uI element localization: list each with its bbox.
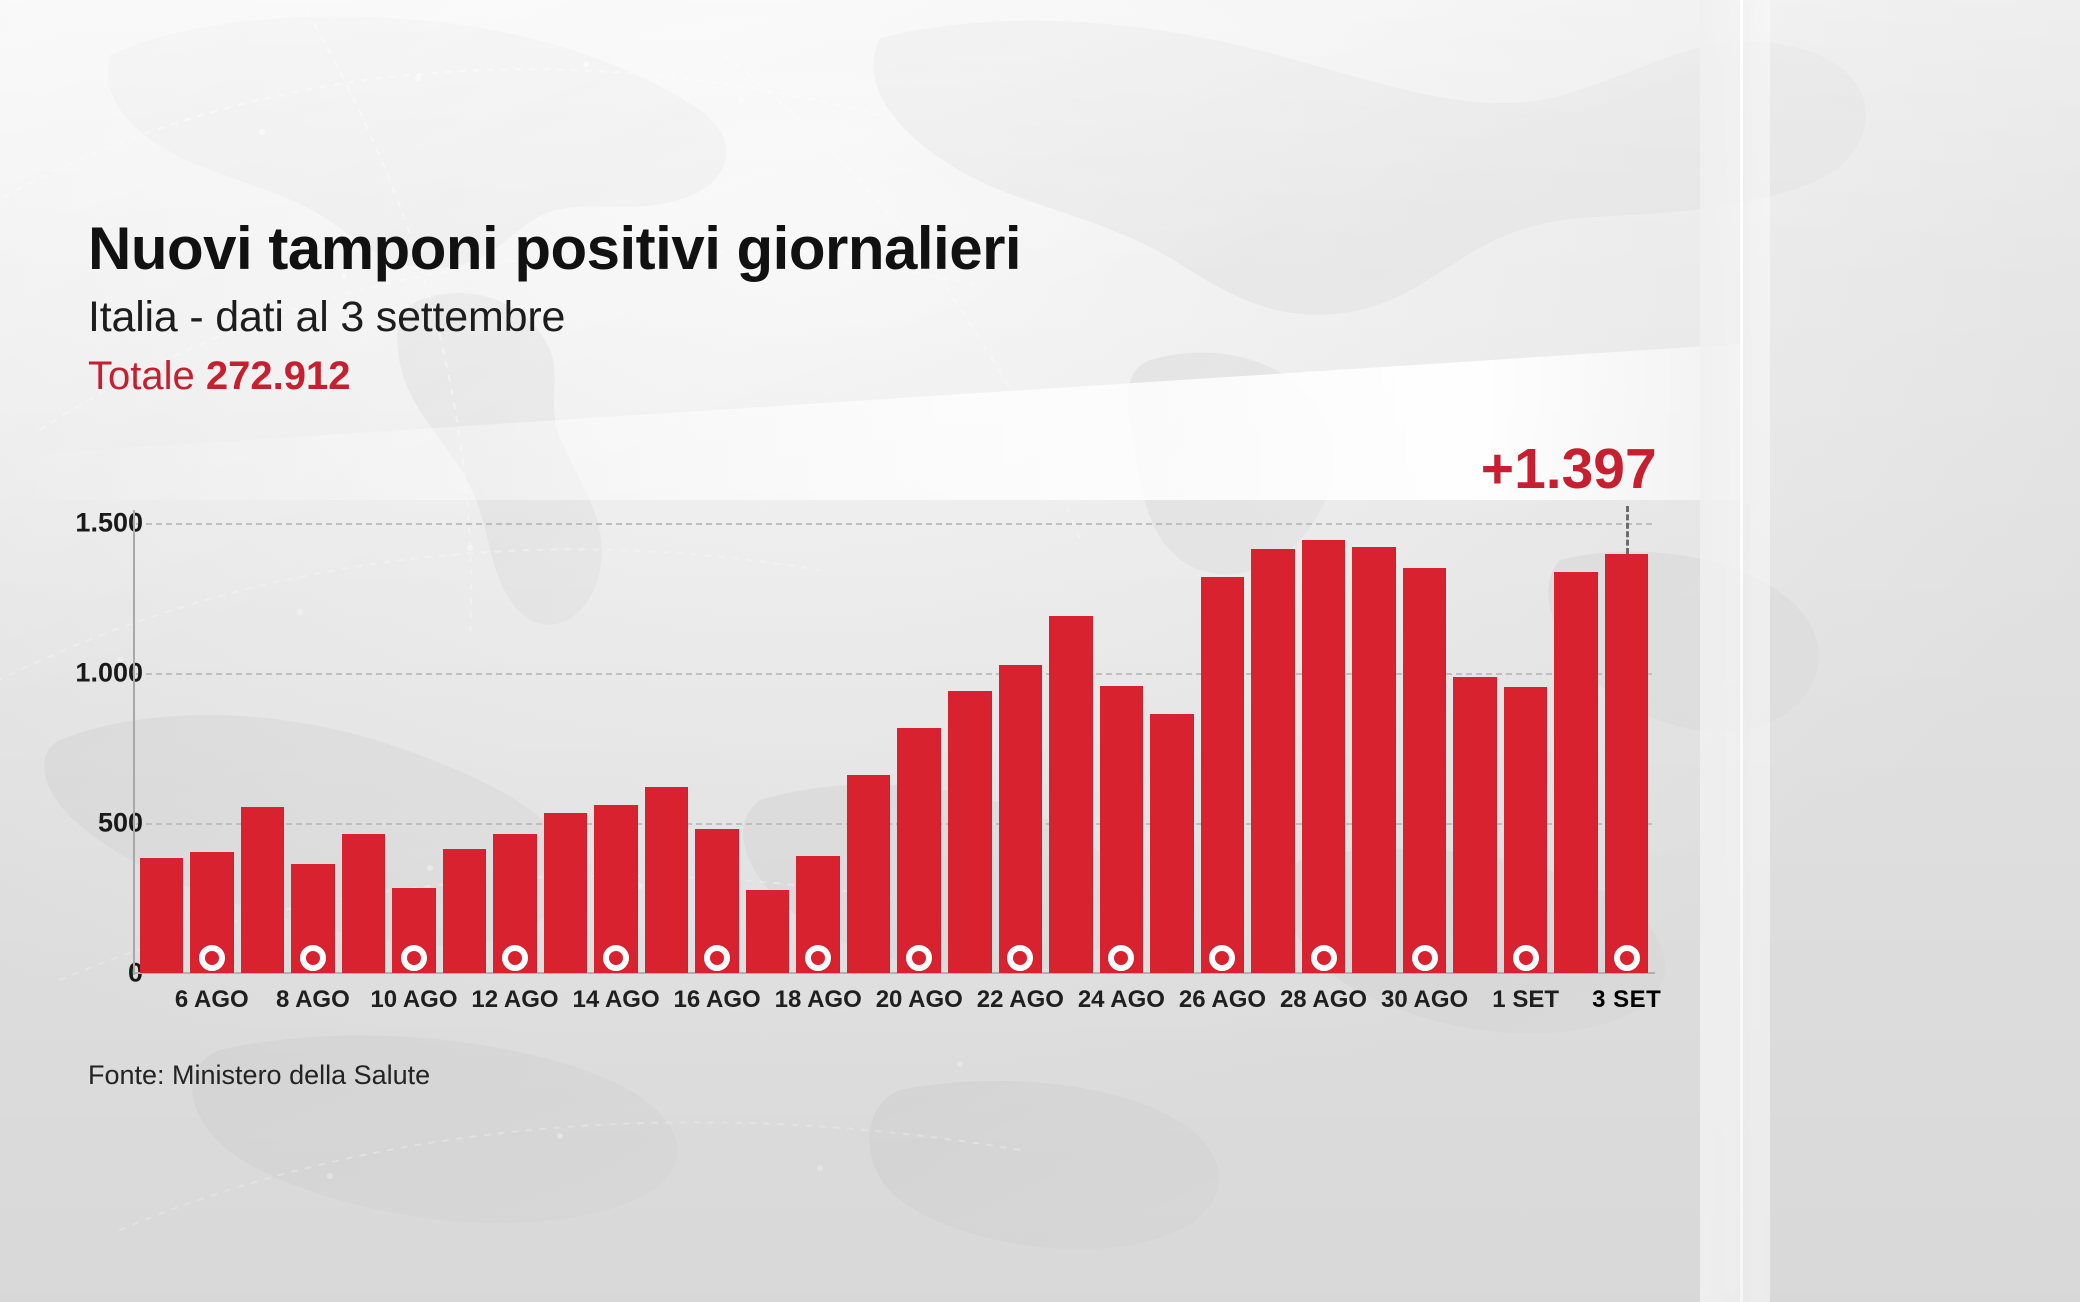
x-axis-tick-label: 6 AGO [175,986,249,1014]
bar-slot[interactable] [742,523,793,973]
bar[interactable] [241,807,285,973]
bar-slot[interactable] [1197,523,1248,973]
bar[interactable] [746,890,790,973]
bar-slot[interactable] [591,523,642,973]
bar-slot[interactable] [1399,523,1450,973]
bar-slot[interactable] [389,523,440,973]
bar[interactable] [544,813,588,973]
x-axis-tick-label: 3 SET [1592,986,1661,1014]
bar-slot[interactable] [1096,523,1147,973]
source-note: Fonte: Ministero della Salute [88,1060,430,1091]
virus-image-panel [1700,0,2080,1302]
bar-slot[interactable] [793,523,844,973]
bar-slot[interactable] [1147,523,1198,973]
bar-slot[interactable] [288,523,339,973]
bar[interactable] [342,834,386,973]
bar-slot[interactable] [136,523,187,973]
x-axis-tick-label: 26 AGO [1179,986,1266,1014]
x-axis-tick-label: 14 AGO [572,986,659,1014]
bar[interactable] [1100,686,1144,973]
bar-slot[interactable] [1500,523,1551,973]
y-axis-line [133,510,135,975]
bar-slot[interactable] [1551,523,1602,973]
bar[interactable] [1302,540,1346,973]
x-axis-tick-label: 24 AGO [1078,986,1165,1014]
bar-slot[interactable] [490,523,541,973]
bar[interactable] [1150,714,1194,973]
x-axis-tick-label: 12 AGO [471,986,558,1014]
x-axis-tick-label: 22 AGO [977,986,1064,1014]
bar-slot[interactable] [945,523,996,973]
bar-slot[interactable] [1450,523,1501,973]
x-axis-tick-label: 10 AGO [370,986,457,1014]
bar[interactable] [1403,568,1447,973]
panel-divider-line [1740,0,1743,1302]
bar[interactable] [291,864,335,973]
x-axis-tick-label: 16 AGO [674,986,761,1014]
bar-slot[interactable] [641,523,692,973]
bar[interactable] [1453,677,1497,973]
bar[interactable] [140,858,184,973]
bar[interactable] [999,665,1043,973]
bar[interactable] [796,856,840,973]
bar[interactable] [493,834,537,973]
bar-slot[interactable] [338,523,389,973]
x-axis-tick-label: 30 AGO [1381,986,1468,1014]
bar[interactable] [1201,577,1245,973]
bar[interactable] [1049,616,1093,973]
y-axis-tick-label: 500 [0,808,143,839]
x-axis-tick-label: 8 AGO [276,986,350,1014]
bar[interactable] [1352,547,1396,973]
bar[interactable] [897,728,941,973]
bar-slot[interactable] [540,523,591,973]
bar[interactable] [948,691,992,973]
bar-chart: 05001.0001.500 6 AGO8 AGO10 AGO12 AGO14 … [0,0,1740,1120]
bar[interactable] [1251,549,1295,973]
bar-slot[interactable] [439,523,490,973]
bar[interactable] [847,775,891,973]
bar-slot[interactable] [1601,523,1652,973]
bar-slot[interactable] [894,523,945,973]
bar[interactable] [695,829,739,973]
bar[interactable] [594,805,638,973]
bar-slot[interactable] [1349,523,1400,973]
bar[interactable] [1504,687,1548,973]
bar-slot[interactable] [995,523,1046,973]
bar[interactable] [190,852,234,973]
bar-slot[interactable] [187,523,238,973]
bar-slot[interactable] [1298,523,1349,973]
bar-slot[interactable] [1046,523,1097,973]
bar-slot[interactable] [843,523,894,973]
x-axis-tick-label: 20 AGO [876,986,963,1014]
callout-leader-line [1626,506,1629,554]
bar[interactable] [1605,554,1649,973]
x-axis-tick-label: 1 SET [1492,986,1559,1014]
y-axis-tick-label: 1.000 [0,658,143,689]
bar-slot[interactable] [1248,523,1299,973]
y-axis-tick-label: 1.500 [0,508,143,539]
bar[interactable] [1554,572,1598,973]
x-axis-tick-labels: 6 AGO8 AGO10 AGO12 AGO14 AGO16 AGO18 AGO… [136,986,1652,1026]
x-axis-tick-label: 28 AGO [1280,986,1367,1014]
y-axis-tick-label: 0 [0,958,143,989]
bar-slot[interactable] [692,523,743,973]
bar-series [136,523,1652,973]
x-axis-tick-label: 18 AGO [775,986,862,1014]
bar[interactable] [645,787,689,973]
bar[interactable] [443,849,487,973]
bar[interactable] [392,888,436,973]
bar-slot[interactable] [237,523,288,973]
callout-latest-value: +1.397 [1397,436,1657,502]
